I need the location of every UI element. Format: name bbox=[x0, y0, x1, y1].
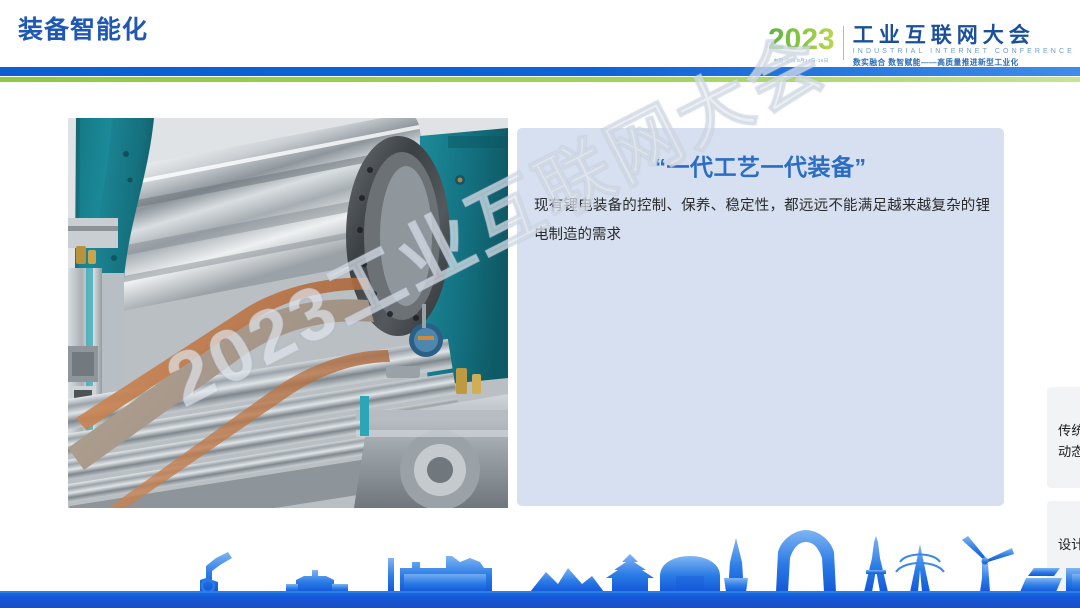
logo-tagline: 数实融合 数智赋能——高质量推进新型工业化 bbox=[853, 57, 1066, 68]
card-body-text: 现有锂电装备的控制、保养、稳定性，都远远不能满足越来越复杂的锂电制造的需求 bbox=[534, 192, 990, 250]
conference-logo: 2023 中国·常州 8月14日-16日 工业互联网大会 INDUSTRIAL … bbox=[768, 24, 1075, 76]
presentation-slide: 装备智能化 2023 中国·常州 8月14日-16日 工业互联网大会 INDUS… bbox=[0, 0, 1080, 608]
issue-card-unstable-performance[interactable]: 运行性能不稳定 设计原理与真实运行效果相去甚远 bbox=[1047, 501, 1080, 608]
page-title: 装备智能化 bbox=[18, 18, 148, 43]
issue-card-control-precision[interactable]: 控制精准度不够 传统基于规则性的控制，无法适应动态、状态型的实时控制 bbox=[1047, 387, 1080, 488]
logo-date: 中国·常州 8月14日-16日 bbox=[774, 57, 829, 64]
card-title: “一代工艺一代装备” bbox=[517, 148, 1004, 182]
issue-card-text: 传统基于规则性的控制，无法适应动态、状态型的实时控制 bbox=[1058, 420, 1080, 462]
machine-photo bbox=[68, 118, 508, 508]
issue-card-title: 控制精准度不够 bbox=[1058, 396, 1080, 418]
footer-skyline bbox=[0, 518, 1080, 608]
logo-name-cn: 工业互联网大会 bbox=[853, 24, 1075, 47]
logo-name-en: INDUSTRIAL INTERNET CONFERENCE bbox=[853, 48, 1075, 55]
content-card: “一代工艺一代装备” 现有锂电装备的控制、保养、稳定性，都远远不能满足越来越复杂… bbox=[517, 128, 1004, 506]
issue-card-text: 设计原理与真实运行效果相去甚远 bbox=[1058, 534, 1080, 555]
logo-year-block: 2023 中国·常州 8月14日-16日 bbox=[768, 24, 843, 64]
logo-name-block: 工业互联网大会 INDUSTRIAL INTERNET CONFERENCE 数… bbox=[853, 24, 1075, 68]
header-rule-green bbox=[0, 77, 1080, 82]
issue-card-title: 运行性能不稳定 bbox=[1058, 510, 1080, 532]
logo-divider bbox=[843, 26, 844, 60]
logo-year: 2023 bbox=[768, 24, 835, 56]
